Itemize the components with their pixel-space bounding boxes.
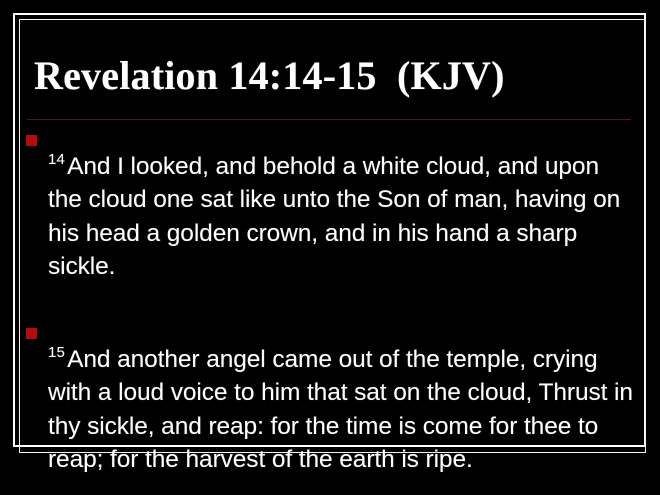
square-bullet-icon bbox=[26, 328, 37, 339]
bullet-paragraph: 14And I looked, and behold a white cloud… bbox=[26, 125, 638, 308]
presentation-slide: Revelation 14:14-15 (KJV) 14And I looked… bbox=[0, 0, 660, 495]
paragraph-text: 14And I looked, and behold a white cloud… bbox=[48, 150, 638, 284]
slide-body: 14And I looked, and behold a white cloud… bbox=[26, 125, 638, 495]
slide-title: Revelation 14:14-15 (KJV) bbox=[26, 24, 638, 99]
title-divider-rule bbox=[27, 119, 631, 120]
verse-body: And I looked, and behold a white cloud, … bbox=[48, 153, 620, 281]
verse-number: 14 bbox=[48, 151, 67, 168]
square-bullet-icon bbox=[26, 135, 37, 146]
bullet-paragraph: 15And another angel came out of the temp… bbox=[26, 318, 638, 495]
verse-number: 15 bbox=[48, 344, 67, 361]
paragraph-text: 15And another angel came out of the temp… bbox=[48, 343, 638, 477]
slide-content: Revelation 14:14-15 (KJV) 14And I looked… bbox=[26, 24, 638, 444]
verse-body: And another angel came out of the temple… bbox=[48, 346, 633, 474]
